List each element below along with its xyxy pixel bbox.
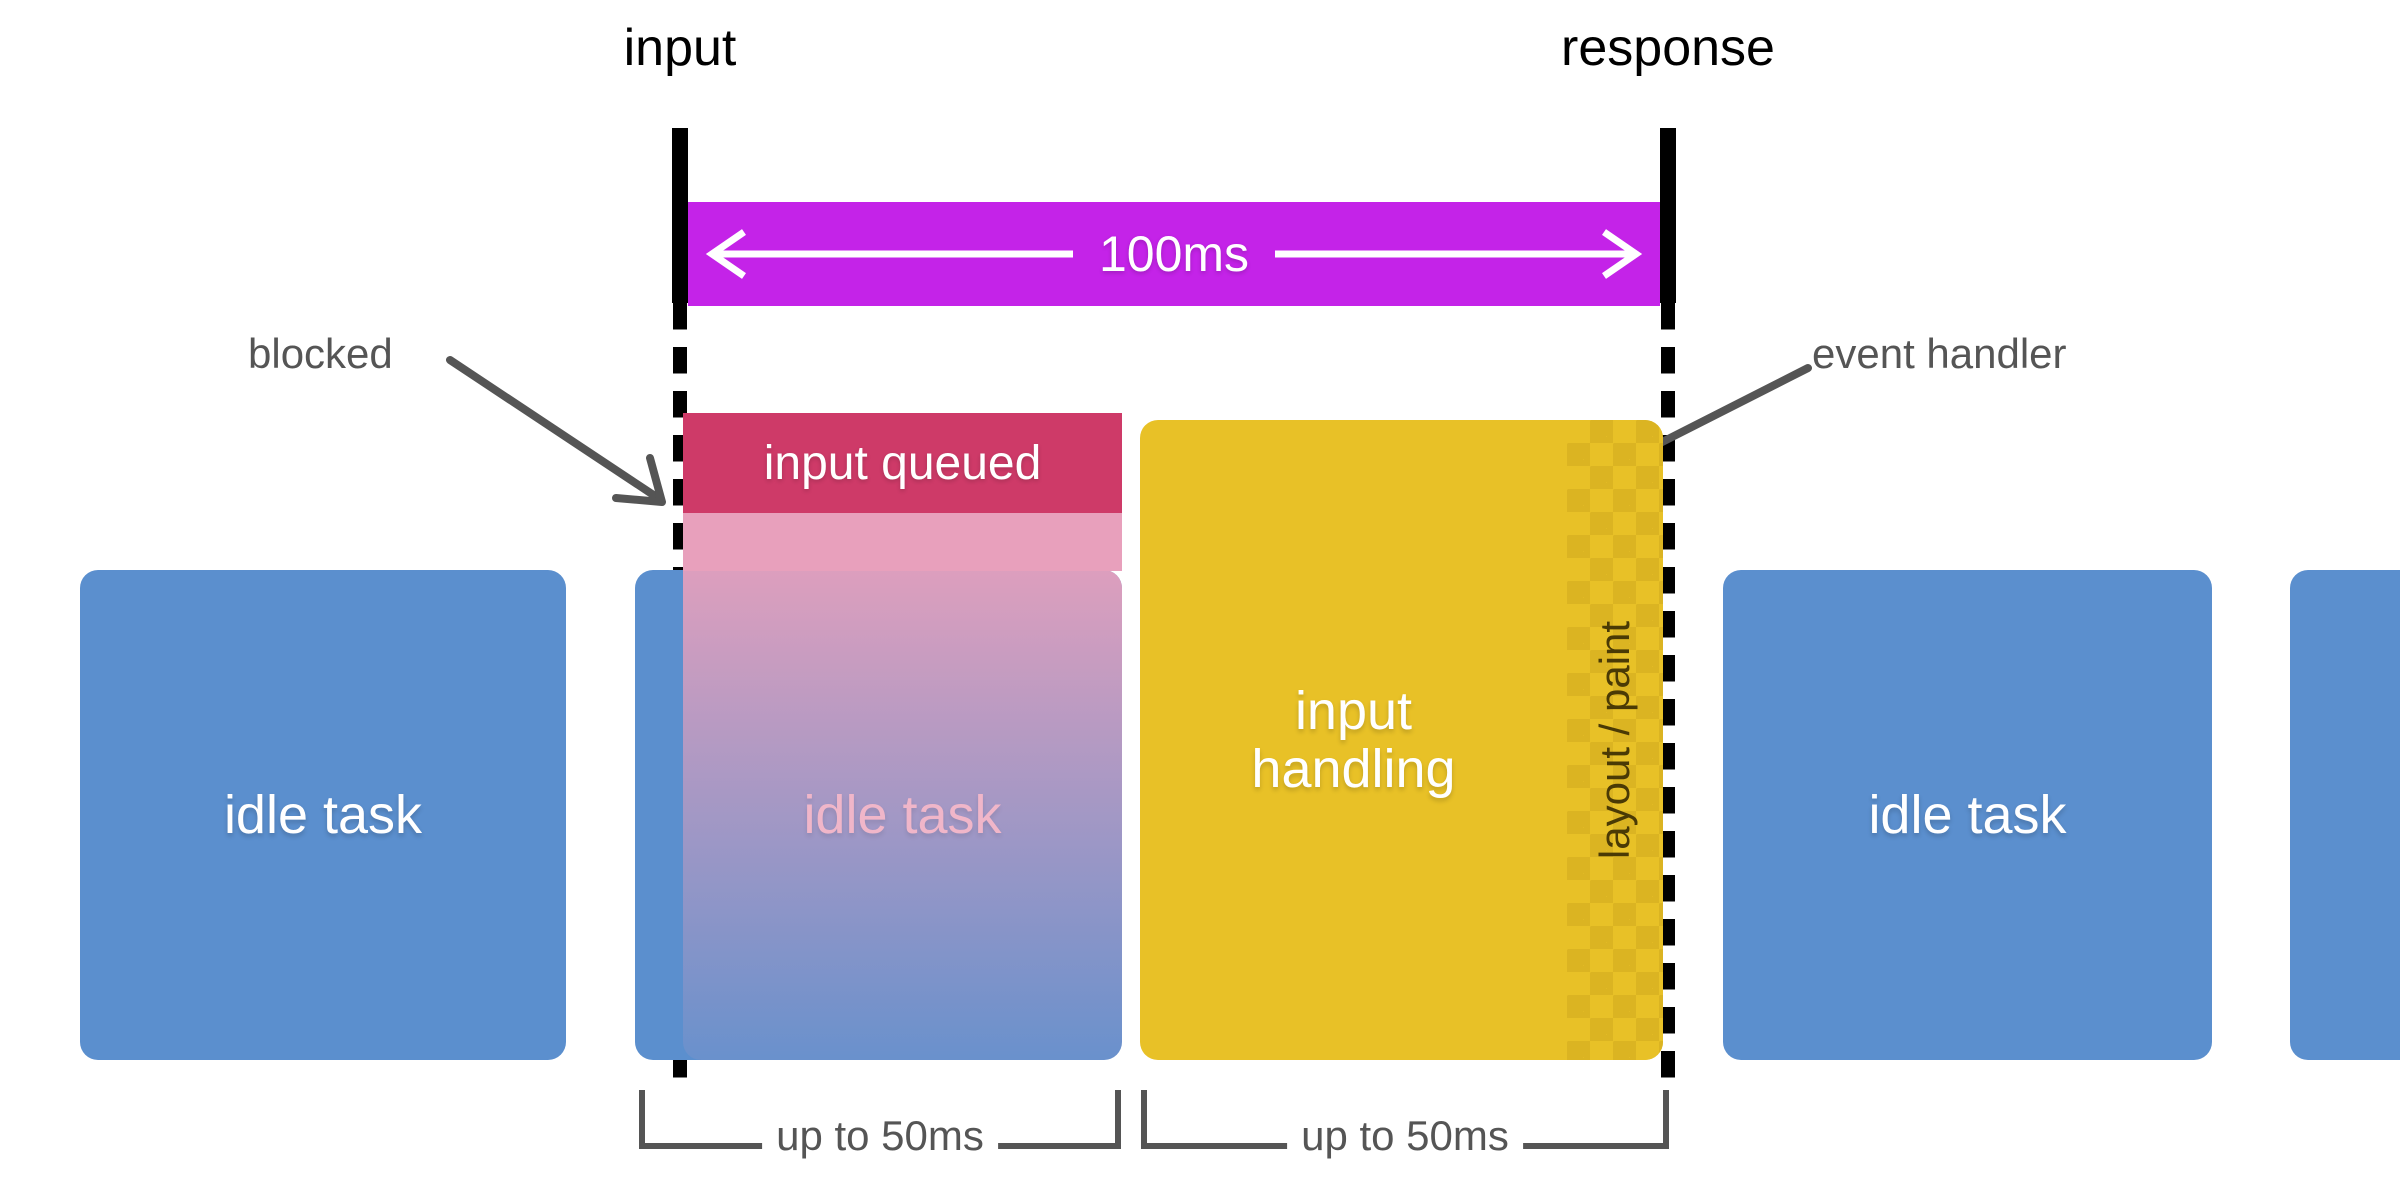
response-marker-line-solid bbox=[1660, 128, 1676, 303]
task-box-idle-2[interactable] bbox=[635, 570, 1122, 1060]
callout-arrow-blocked-icon bbox=[440, 350, 680, 510]
task-box-idle-4-partial[interactable] bbox=[2290, 570, 2400, 1060]
layout-paint-label: layout / paint bbox=[1591, 621, 1639, 859]
diagram-canvas: input response 100ms blocked event handl… bbox=[0, 0, 2400, 1200]
layout-paint-strip[interactable]: layout / paint bbox=[1567, 420, 1663, 1060]
task-label-idle-1: idle task bbox=[224, 786, 422, 844]
task-label-input-handling: input handling bbox=[1251, 682, 1455, 799]
measure-bracket-handling: up to 50ms bbox=[1140, 1090, 1670, 1160]
task-box-idle-1[interactable]: idle task bbox=[80, 570, 566, 1060]
input-queued-label: input queued bbox=[764, 436, 1042, 491]
input-queued-band[interactable]: input queued bbox=[683, 413, 1122, 513]
budget-band-label: 100ms bbox=[1073, 225, 1275, 283]
marker-label-response: response bbox=[1561, 18, 1775, 78]
task-box-idle-3[interactable]: idle task bbox=[1723, 570, 2212, 1060]
measure-label-handling: up to 50ms bbox=[1287, 1112, 1523, 1160]
marker-label-input: input bbox=[624, 18, 737, 78]
callout-label-event-handler: event handler bbox=[1812, 330, 2067, 378]
task-label-idle-3: idle task bbox=[1868, 786, 2066, 844]
input-marker-line-solid bbox=[672, 128, 688, 303]
task-box-input-handling[interactable]: input handling layout / paint bbox=[1140, 420, 1663, 1060]
measure-bracket-queue: up to 50ms bbox=[638, 1090, 1122, 1160]
budget-band-100ms: 100ms bbox=[688, 202, 1660, 306]
callout-label-blocked: blocked bbox=[248, 330, 393, 378]
input-queued-light-band bbox=[683, 513, 1122, 571]
measure-label-queue: up to 50ms bbox=[762, 1112, 998, 1160]
